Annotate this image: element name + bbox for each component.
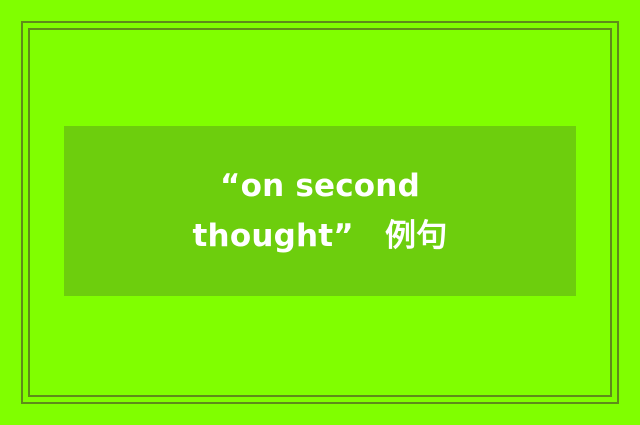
headline-panel: “on second thought” 例句	[64, 126, 576, 296]
headline-line-2: thought” 例句	[193, 211, 448, 261]
banner-graphic: “on second thought” 例句	[0, 0, 640, 425]
headline-line-1: “on second	[220, 161, 420, 211]
